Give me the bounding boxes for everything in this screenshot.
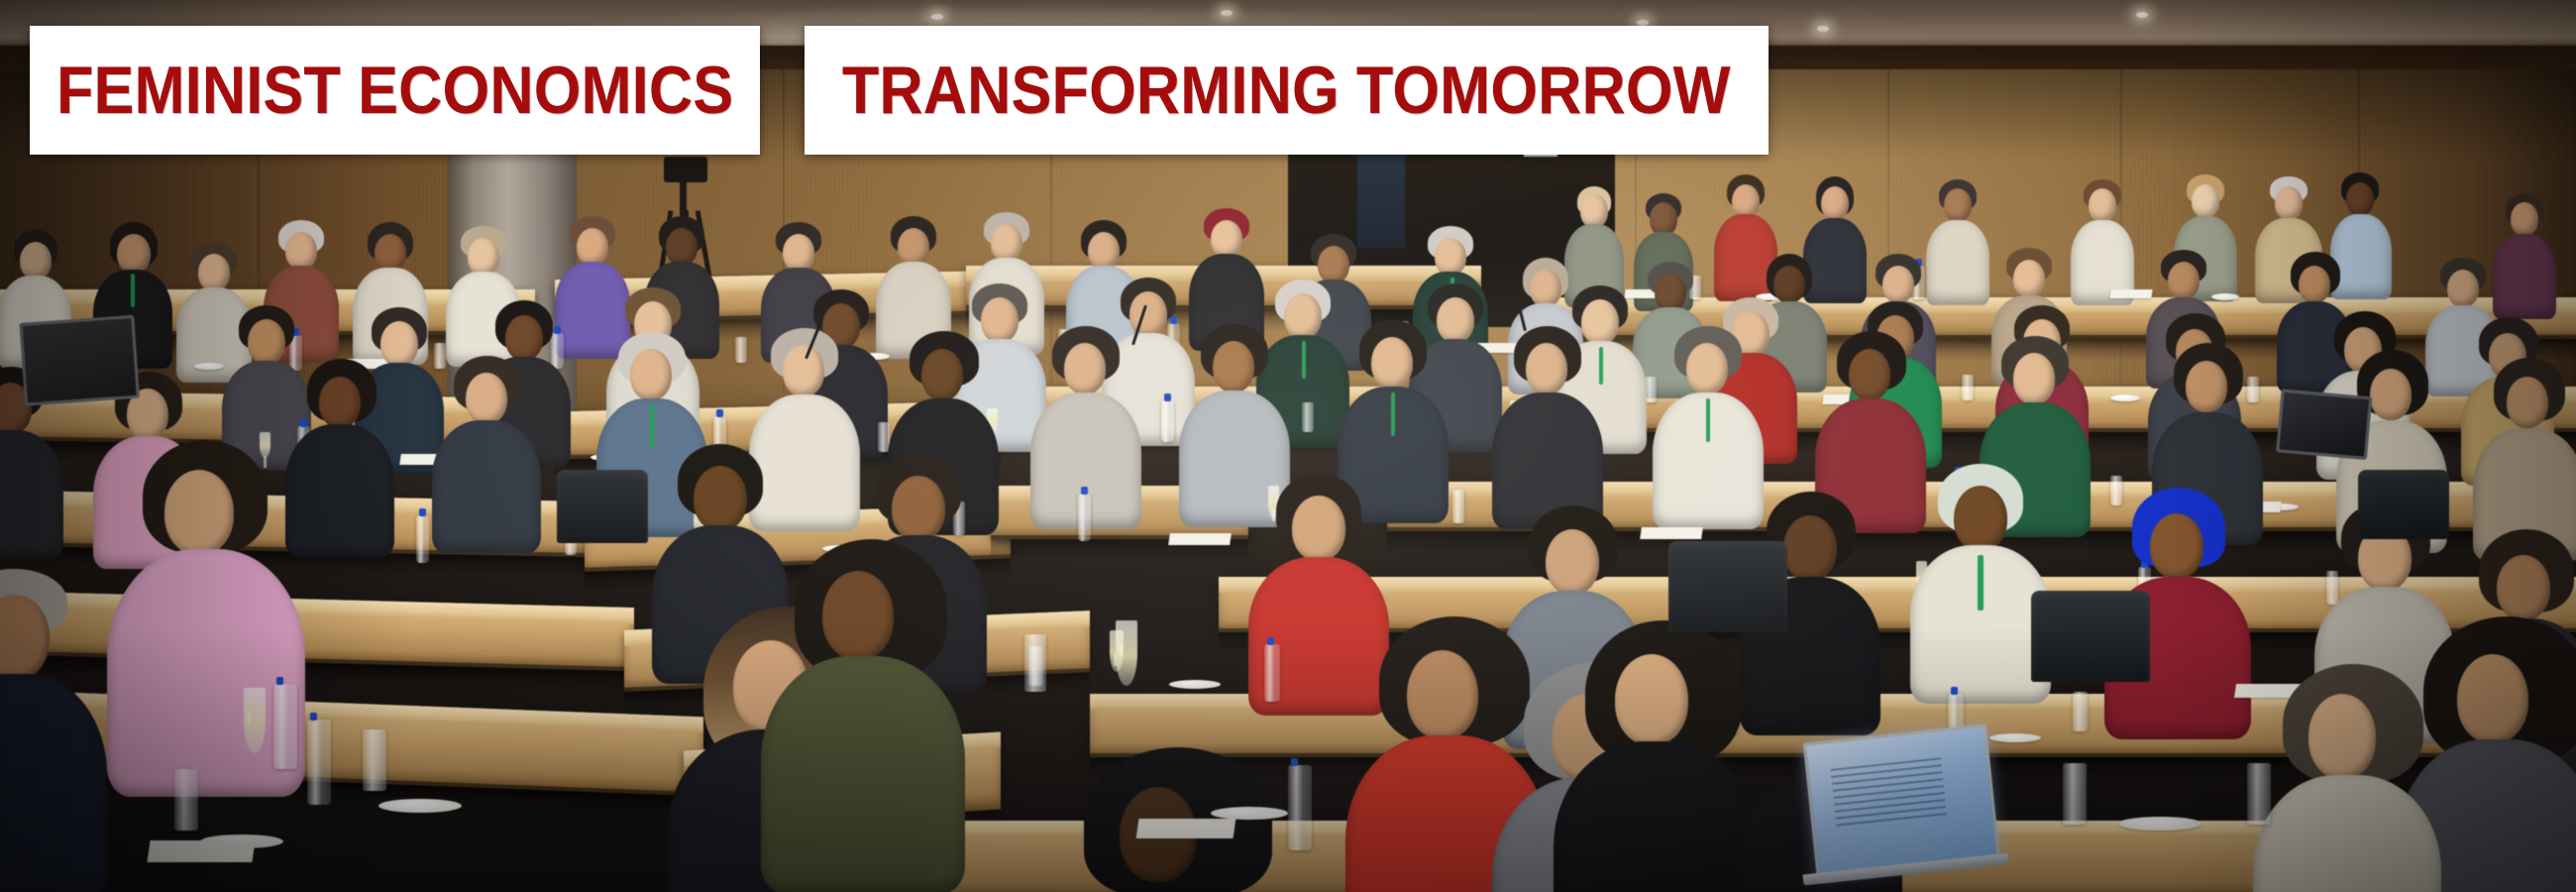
conference-photo: FEMINIST ECONOMICS TRANSFORMING TOMORROW	[0, 0, 2576, 892]
chair-back	[557, 470, 648, 543]
title-banner-feminist-economics: FEMINIST ECONOMICS	[30, 26, 760, 155]
chair-back	[2358, 470, 2449, 539]
laptop-screen	[2277, 389, 2367, 453]
ceiling-downlight	[2136, 12, 2148, 18]
banner-text-primary: FEMINIST ECONOMICS	[56, 52, 733, 129]
ceiling-downlight	[1817, 26, 1829, 32]
ceiling-downlight	[1221, 10, 1233, 16]
banner-text-secondary: TRANSFORMING TOMORROW	[842, 52, 1731, 129]
laptop-screen	[19, 315, 133, 399]
ceiling-downlight	[931, 14, 943, 20]
chair-back	[2031, 591, 2150, 682]
chair-back	[1668, 541, 1787, 632]
title-banner-transforming-tomorrow: TRANSFORMING TOMORROW	[805, 26, 1769, 155]
laptop-screen	[1803, 725, 1994, 873]
